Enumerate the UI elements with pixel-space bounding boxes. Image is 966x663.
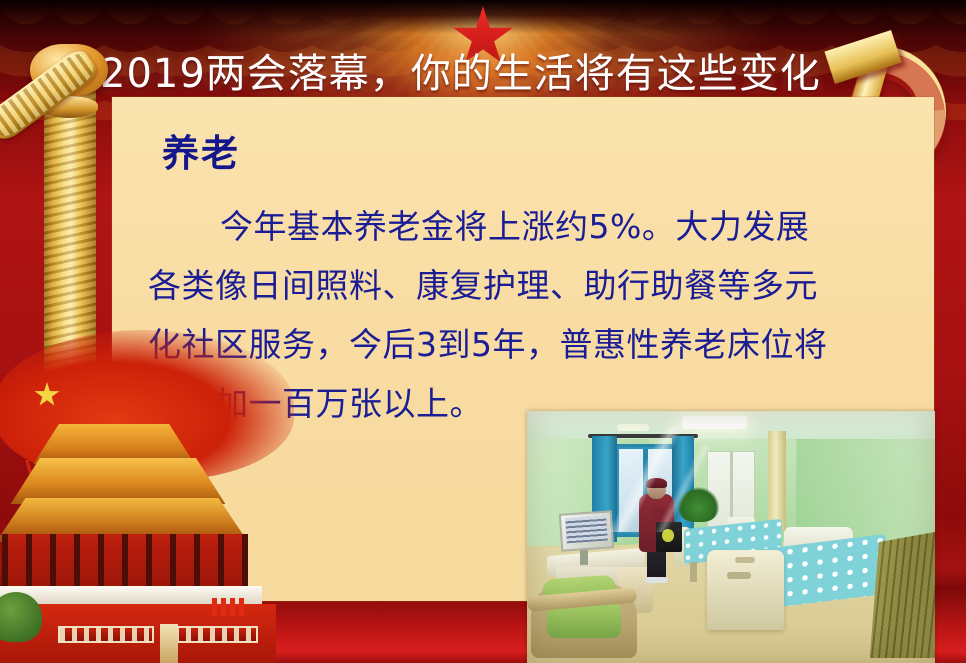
body-line-2: 各类像日间照料、康复护理、助行助餐等多元	[148, 256, 913, 315]
photo-bed-near-handle-slot	[727, 572, 751, 579]
body-line-1: 今年基本养老金将上涨约5%。大力发展	[148, 197, 913, 256]
gate-plaque-right	[172, 626, 258, 643]
photo-ceiling-light-secondary	[617, 424, 650, 432]
tiananmen-illustration	[0, 330, 334, 663]
photo-potted-plant	[678, 487, 719, 522]
gate-columns	[2, 534, 248, 588]
gate-archway	[160, 624, 178, 663]
photo-bed-far-leg	[690, 562, 697, 582]
photo-monitor-screen	[565, 515, 607, 543]
photo-room-pillar	[768, 431, 786, 532]
photo-person-shoes	[645, 577, 667, 583]
elderly-care-room-photo	[527, 411, 935, 663]
photo-bed-near-handle-slot-secondary	[735, 557, 755, 563]
photo-person-bag-logo	[662, 529, 674, 542]
slide-canvas: 2019两会落幕，你的生活将有这些变化 养老 今年基本养老金将上涨约5%。大力发…	[0, 0, 966, 663]
photo-person-hat	[646, 478, 666, 489]
photo-ceiling-light	[682, 416, 747, 429]
gate-plaque-left	[58, 626, 154, 643]
page-title: 2019两会落幕，你的生活将有这些变化	[100, 42, 800, 98]
section-heading: 养老	[162, 123, 240, 177]
small-flags	[212, 598, 248, 616]
photo-wood-grain	[870, 532, 935, 658]
